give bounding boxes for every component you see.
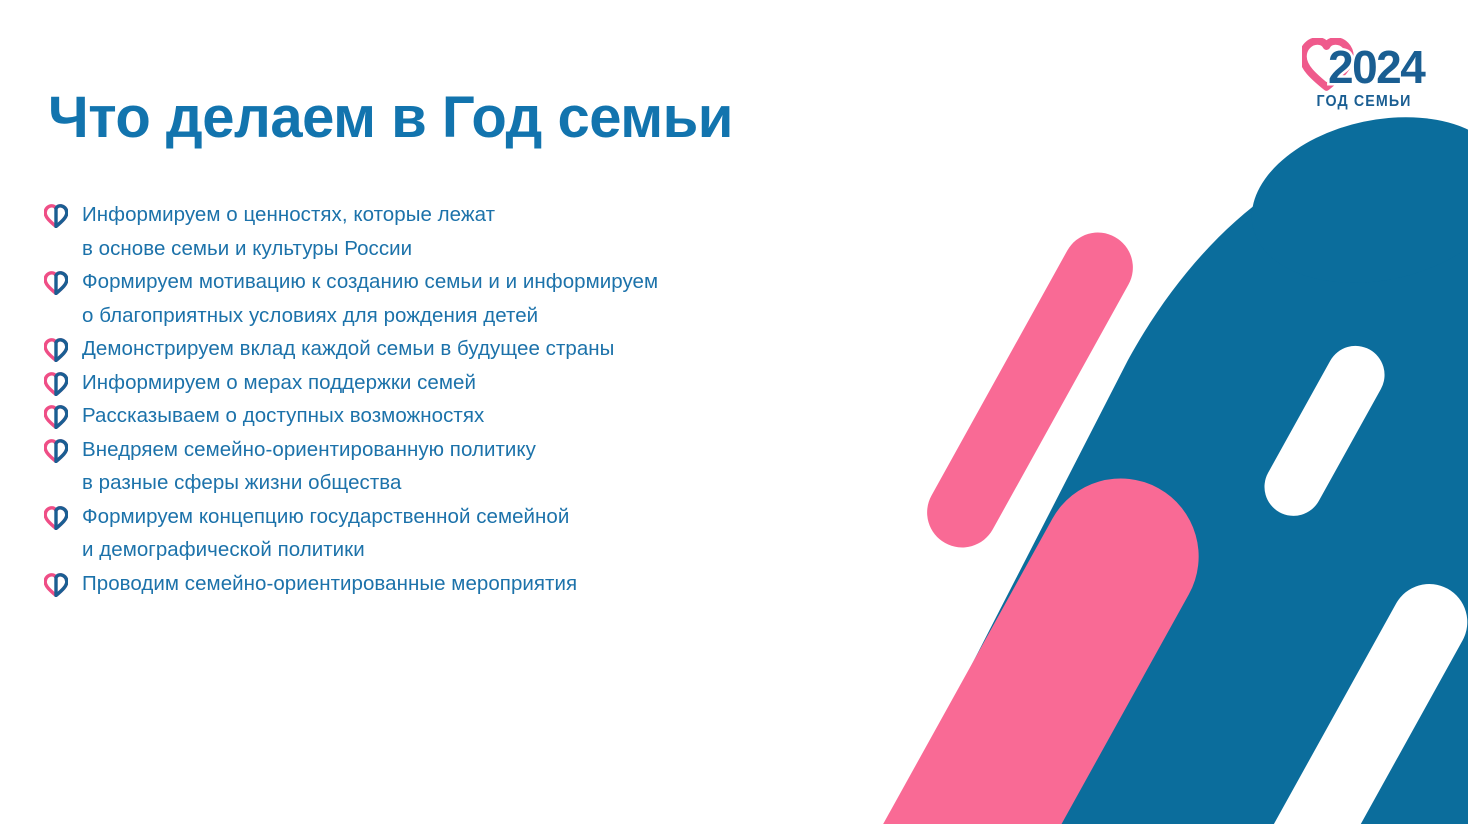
heart-icon <box>44 338 68 362</box>
white-stripe-short-shape <box>1254 335 1395 526</box>
logo-caption: ГОД СЕМЬИ <box>1307 93 1421 111</box>
heart-icon <box>44 506 68 530</box>
logo-year-text: 2024 <box>1328 41 1426 92</box>
bullet-text: Информируем о мерах поддержки семей <box>82 366 476 400</box>
bullet-text: Внедряем семейно-ориентированную политик… <box>82 433 536 500</box>
year-of-family-logo: 2024 ГОД СЕМЬИ <box>1302 38 1426 120</box>
heart-icon <box>44 439 68 463</box>
svg-text:2024: 2024 <box>1328 41 1426 92</box>
bullet-text: Демонстрируем вклад каждой семьи в будущ… <box>82 332 614 366</box>
heart-icon <box>44 405 68 429</box>
heart-icon <box>44 271 68 295</box>
bullet-list: Информируем о ценностях, которые лежат в… <box>44 198 834 600</box>
list-item: Внедряем семейно-ориентированную политик… <box>44 433 834 500</box>
slide-root: Что делаем в Год семьи 2024 ГОД СЕМЬИ <box>0 0 1468 824</box>
list-item: Информируем о мерах поддержки семей <box>44 366 834 400</box>
heart-icon <box>44 372 68 396</box>
list-item: Информируем о ценностях, которые лежат в… <box>44 198 834 265</box>
pink-stripe-thick-shape <box>819 450 1227 824</box>
list-item: Проводим семейно-ориентированные меропри… <box>44 567 834 601</box>
blue-blob-shape <box>890 95 1468 824</box>
bullet-text: Информируем о ценностях, которые лежат в… <box>82 198 495 265</box>
list-item: Демонстрируем вклад каждой семьи в будущ… <box>44 332 834 366</box>
bullet-text: Проводим семейно-ориентированные меропри… <box>82 567 577 601</box>
bullet-text: Рассказываем о доступных возможностях <box>82 399 484 433</box>
list-item: Формируем концепцию государственной семе… <box>44 500 834 567</box>
logo-mark: 2024 <box>1302 38 1426 92</box>
white-stripe-long-shape <box>1211 570 1468 824</box>
bullet-text: Формируем концепцию государственной семе… <box>82 500 569 567</box>
pink-stripe-thin-shape <box>915 220 1146 560</box>
heart-icon <box>44 204 68 228</box>
list-item: Формируем мотивацию к созданию семьи и и… <box>44 265 834 332</box>
page-title: Что делаем в Год семьи <box>48 87 968 150</box>
list-item: Рассказываем о доступных возможностях <box>44 399 834 433</box>
bullet-text: Формируем мотивацию к созданию семьи и и… <box>82 265 658 332</box>
heart-icon <box>44 573 68 597</box>
